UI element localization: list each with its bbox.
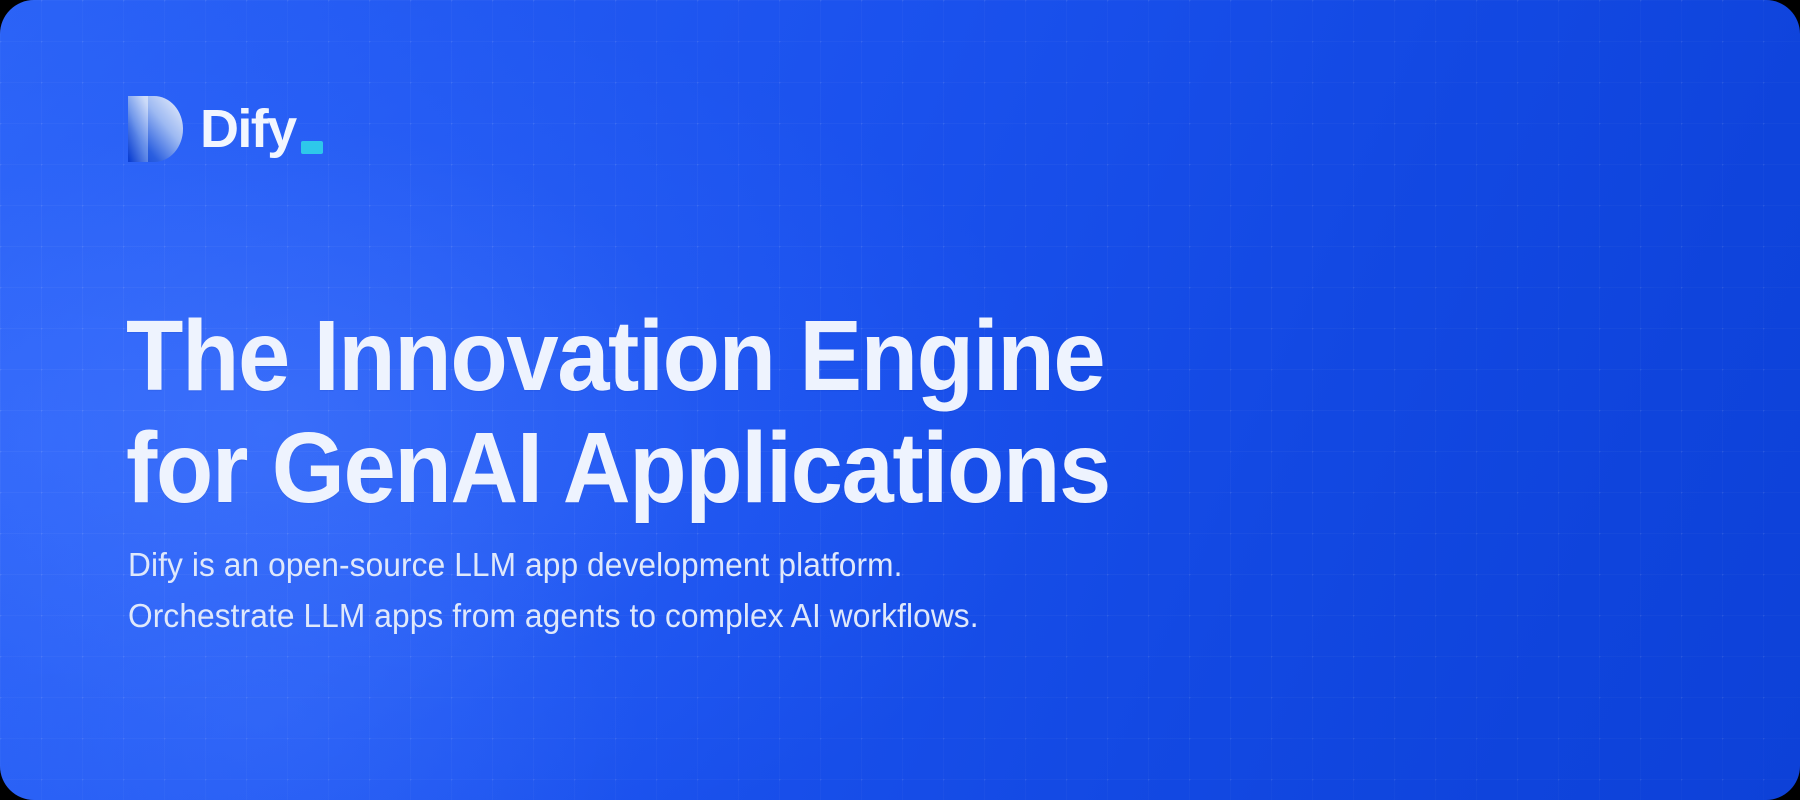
dify-d-mark-icon — [128, 96, 186, 162]
page-title: The Innovation Engine for GenAI Applicat… — [126, 300, 1110, 524]
headline-line-2: for GenAI Applications — [126, 412, 1110, 524]
subtitle-line-1: Dify is an open-source LLM app developme… — [128, 540, 979, 591]
subtitle-line-2: Orchestrate LLM apps from agents to comp… — [128, 591, 979, 642]
brand-logo[interactable]: Dify — [128, 96, 323, 162]
page-subtitle: Dify is an open-source LLM app developme… — [128, 540, 979, 642]
hero-banner: Dify The Innovation Engine for GenAI App… — [0, 0, 1800, 800]
logo-wordmark-wrap: Dify — [200, 102, 323, 156]
logo-accent-underscore — [301, 141, 323, 154]
logo-wordmark-text: Dify — [200, 102, 296, 156]
headline-line-1: The Innovation Engine — [126, 300, 1110, 412]
